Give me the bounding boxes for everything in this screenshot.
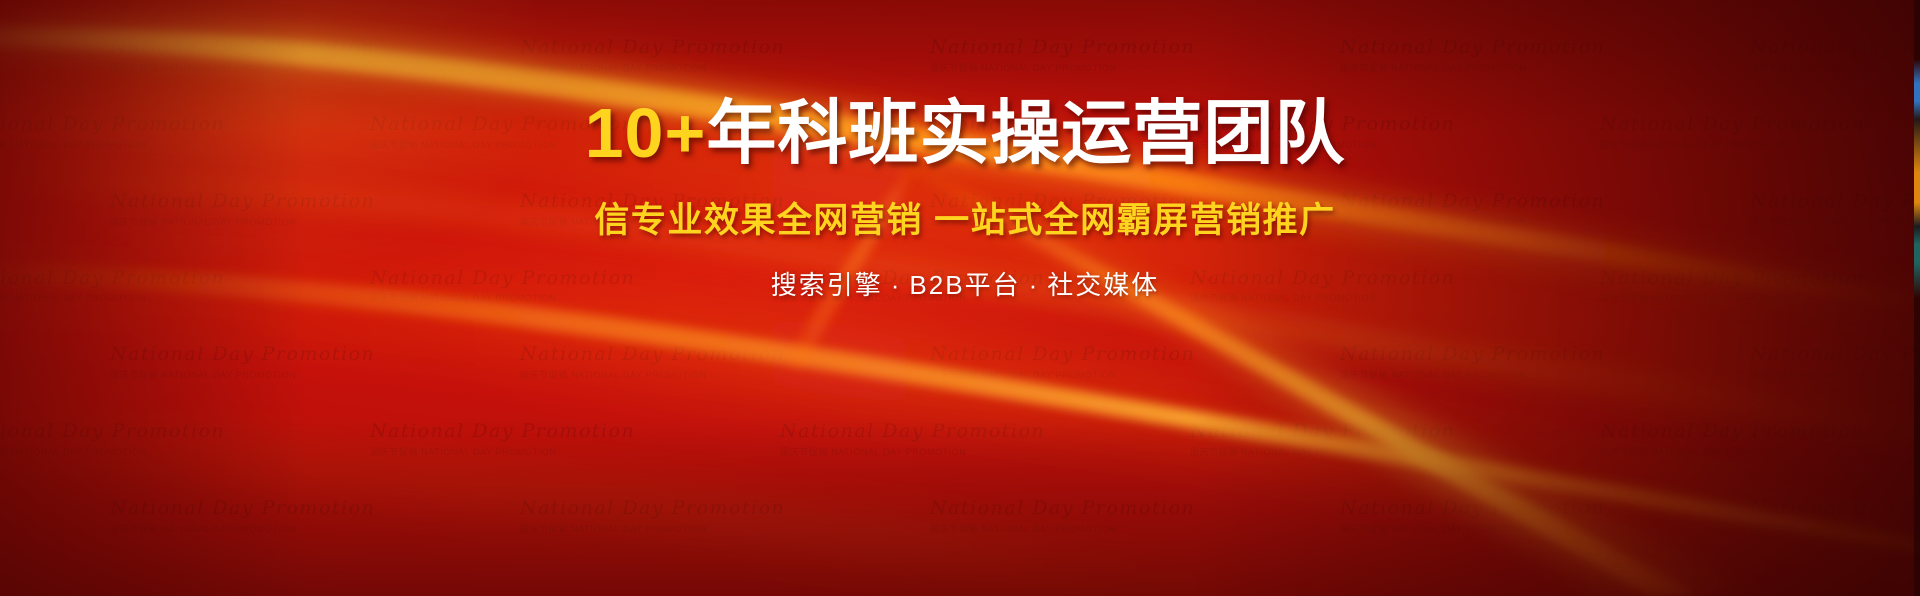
banner-content: 10+年科班实操运营团队 信专业效果全网营销 一站式全网霸屏营销推广 搜索引擎·… — [0, 96, 1920, 302]
promotional-banner: National Day Promotion国庆节促销 NATIONAL DAY… — [0, 0, 1920, 596]
tagline-separator-icon: · — [891, 270, 902, 300]
tagline: 搜索引擎·B2B平台·社交媒体 — [10, 265, 1920, 302]
headline-accent: 10+ — [585, 94, 707, 172]
tagline-item-social-media: 社交媒体 — [1047, 270, 1159, 300]
next-slide-edge-sliver[interactable] — [1914, 0, 1920, 596]
headline-main: 年科班实操运营团队 — [706, 94, 1345, 172]
tagline-item-search-engine: 搜索引擎 — [771, 270, 883, 300]
tagline-item-b2b-platform: B2B平台 — [909, 270, 1020, 300]
headline: 10+年科班实操运营团队 — [10, 96, 1920, 172]
tagline-separator-icon-2: · — [1029, 270, 1040, 300]
subheadline: 信专业效果全网营销 一站式全网霸屏营销推广 — [10, 192, 1920, 243]
